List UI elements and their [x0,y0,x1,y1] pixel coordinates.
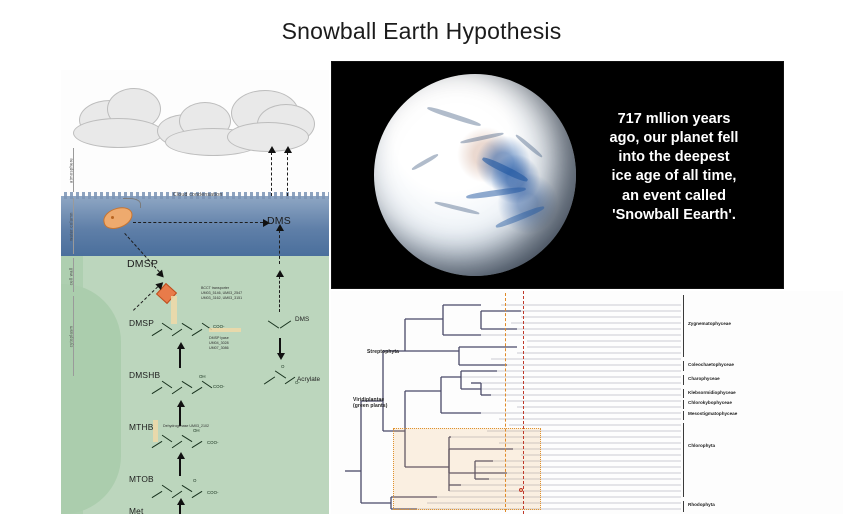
structure-dms [267,316,297,332]
viridiplantae-highlight-box [393,428,541,510]
phylogenetic-tree-figure: Streptophyta Viridiplantae (green plants… [331,291,843,514]
caption-line: ice age of all time, [581,167,767,186]
caption-line: an event called [581,187,767,206]
dms-transport-arrow [133,222,263,223]
dms-cycle-figure: atmosphere water column cell wall cytopl… [61,70,329,514]
group-bracket-mesostigmatophyceae [683,411,684,420]
earth-caption-text: 717 mllion years ago, our planet fell in… [581,110,767,225]
time-marker-red [523,291,524,514]
caption-line: ago, our planet fell [581,129,767,148]
group-label-chlorokybophyceae: Chlorokybophyceae [688,400,732,405]
cloud-shape [73,118,163,148]
group-bracket-charophyceae [683,375,684,385]
structure-mthb: OH COO- [151,432,247,458]
ice-streak [427,105,482,127]
metabolite-label-met: Met [129,506,144,514]
dms-upflux-arrow [279,230,280,264]
group-label-klebsormidiophyceae: Klebsormidiophyceae [688,390,736,395]
snowball-earth-photo: 717 mllion years ago, our planet fell in… [331,61,784,289]
structure-dmsp: COO- [151,322,247,344]
ice-streak [411,153,439,171]
calibration-node-dot [519,488,523,492]
lyase-highlight [209,328,241,332]
slide-root: Snowball Earth Hypothesis atmosphere wat… [0,0,843,514]
ice-streak [515,134,544,159]
structure-mtob: O COO- [151,482,247,508]
dms-flux-arrow [287,152,288,196]
caption-line: into the deepest [581,148,767,167]
group-bracket-chlorophyta [683,423,684,497]
cloud-condensation-label: Cloud condensation [173,192,222,198]
group-label-mesostigmatophyceae: Mesostigmatophyceae [688,411,737,416]
ice-streak [481,155,529,183]
group-bracket-klebsormidiophyceae [683,389,684,398]
transporter-highlight [171,296,177,324]
clade-label-streptophyta: Streptophyta [367,349,399,355]
group-label-chlorophyta: Chlorophyta [688,443,715,448]
ice-streak [495,204,545,229]
dehydrogenase-highlight [153,420,158,442]
group-bracket-chlorokybophyceae [683,400,684,409]
product-label-dms: DMS [295,316,309,323]
time-marker-orange [505,293,506,512]
metabolite-label-mthb: MTHB [129,422,154,432]
group-label-charophyceae: Charophyceae [688,376,720,381]
group-bracket-zygnematophyceae [683,295,684,357]
reaction-arrow-dmshb-dmsp [179,348,181,368]
page-title: Snowball Earth Hypothesis [0,18,843,45]
structure-dmshb: OH COO- [151,378,247,404]
alga-nucleus-dot [111,216,114,219]
product-label-acrylate: Acrylate [297,376,320,383]
group-bracket-coleochaetophyceae [683,361,684,371]
reaction-arrow-met-mtob [179,504,181,514]
axis-label-cell-wall: cell wall [69,247,74,307]
group-bracket-rhodophyta [683,501,684,512]
dmsp-lyase-note: DMSP lyase UM04_3028 UM07_3086 [209,336,229,352]
group-label-rhodophyta: Rhodophyta [688,502,715,507]
ice-streak [460,131,504,144]
bcct-transporter-note: BCCT transporter UM03_5146, UM03_2547 UM… [201,286,242,302]
caption-line: 'Snowball Eearth'. [581,206,767,225]
ice-streak [466,186,526,200]
reaction-arrow-mthb-dmshb [179,406,181,426]
structure-acrylate: O O- [263,366,299,388]
earth-globe-image [374,74,576,276]
axis-label-cytoplasm: cytoplasm [69,307,74,367]
caption-line: 717 mllion years [581,110,767,129]
group-label-zygnematophyceae: Zygnematophyceae [688,321,731,326]
dehydrogenase-note: Dehydrogenase UM03_2102 [163,424,209,429]
ice-streak [434,200,480,215]
dms-cell-release-arrow [279,276,280,312]
dms-flux-arrow [271,152,272,196]
group-label-coleochaetophyceae: Coleochaetophyceae [688,362,734,367]
dmsp-label: DMSP [127,258,158,270]
axis-label-atmosphere: atmosphere [69,141,74,201]
reaction-arrow-to-dms [279,338,281,354]
alga-flagellum [123,198,141,208]
reaction-arrow-mtob-mthb [179,458,181,476]
clade-label-viridiplantae: Viridiplantae (green plants) [353,397,387,410]
